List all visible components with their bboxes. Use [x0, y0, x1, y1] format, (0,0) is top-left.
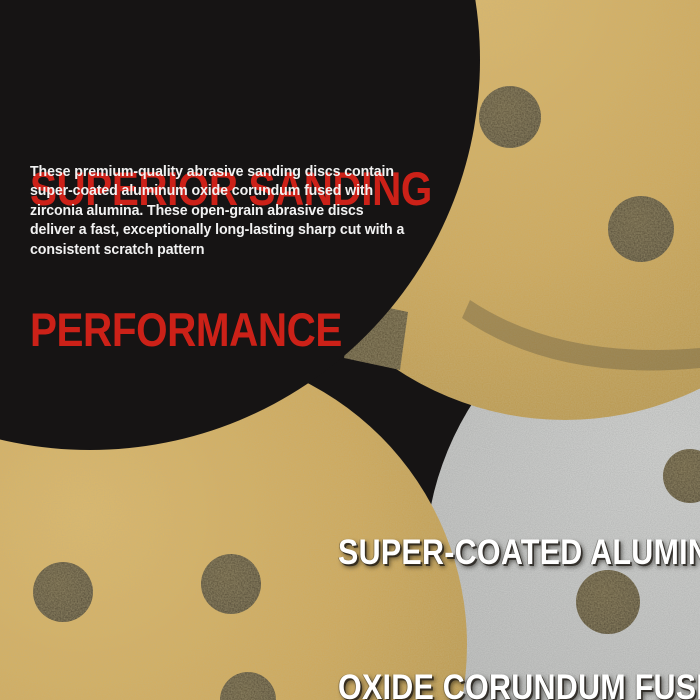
- headline-line-2: PERFORMANCE: [30, 306, 432, 353]
- hole-top-right: [608, 196, 674, 262]
- hole-top-left: [479, 86, 541, 148]
- subhead-line-1: SUPER-COATED ALUMINUM: [338, 530, 700, 575]
- subhead-line-2: OXIDE CORUNDUM FUSED: [338, 665, 700, 700]
- feature-callout: SUPER-COATED ALUMINUM OXIDE CORUNDUM FUS…: [338, 440, 700, 700]
- hole-bottom-a: [33, 562, 93, 622]
- hole-bottom-b: [201, 554, 261, 614]
- body-paragraph: These premium-quality abrasive sanding d…: [30, 163, 410, 261]
- product-marketing-banner: SUPERIOR SANDING PERFORMANCE These premi…: [0, 0, 700, 700]
